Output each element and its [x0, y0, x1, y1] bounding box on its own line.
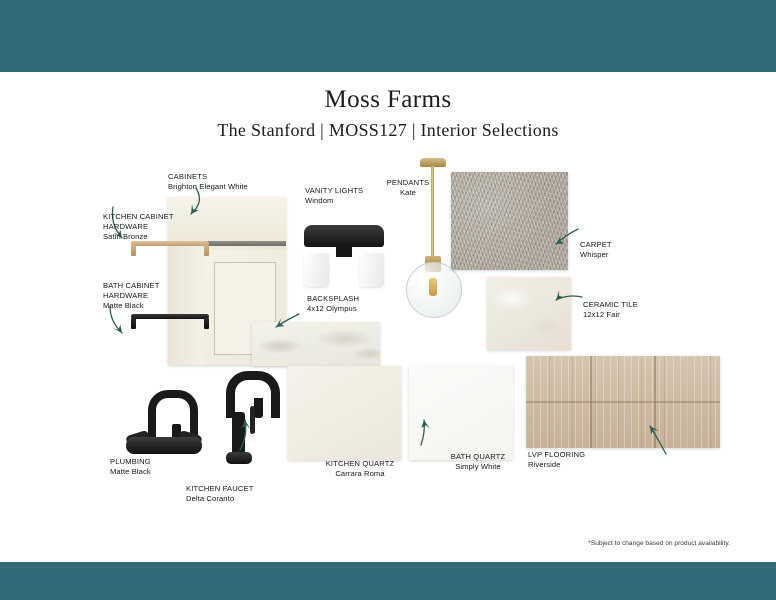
label-lvp-flooring: LVP FLOORING Riverside: [528, 450, 585, 470]
bath-bar-pull-image: [126, 314, 214, 328]
label-plumbing: PLUMBING Matte Black: [110, 457, 151, 477]
label-vanity-lights: VANITY LIGHTS Windom: [305, 186, 363, 206]
label-kitchen-hardware: KITCHEN CABINET HARDWARE Satin Bronze: [103, 212, 174, 242]
top-accent-band: [0, 0, 776, 72]
kitchen-faucet-image: [210, 372, 272, 464]
bath-quartz-swatch: [409, 366, 513, 460]
label-carpet: CARPET Whisper: [580, 240, 612, 260]
selections-board: Moss Farms The Stanford | MOSS127 | Inte…: [0, 0, 776, 600]
label-bath-hardware: BATH CABINET HARDWARE Matte Black: [103, 281, 160, 311]
vanity-light-stem: [336, 243, 352, 257]
pull-post-left: [131, 245, 136, 256]
vanity-light-shade-left: [304, 253, 329, 287]
faucet-column: [232, 412, 245, 456]
pull-bar: [131, 314, 209, 319]
pull-post-right: [204, 245, 209, 256]
faucet-pulldown-head: [254, 398, 263, 418]
ceramic-tile-swatch: [487, 277, 571, 350]
bath-faucet-image: [126, 382, 202, 454]
cabinet-upper-section: [168, 197, 286, 242]
faucet-base-plate: [126, 437, 202, 454]
label-backsplash: BACKSPLASH 4x12 Olympus: [307, 294, 359, 314]
carpet-swatch: [451, 172, 568, 270]
lvp-flooring-swatch: [526, 356, 720, 448]
vanity-light-shade-right: [359, 253, 384, 287]
vanity-light-image: [298, 225, 390, 287]
label-bath-quartz: BATH QUARTZ Simply White: [437, 452, 519, 472]
lvp-plank-row-seam: [526, 401, 720, 403]
label-kitchen-faucet: KITCHEN FAUCET Delta Coranto: [186, 484, 254, 504]
label-kitchen-quartz: KITCHEN QUARTZ Carrara Roma: [312, 459, 408, 479]
pull-post-right: [204, 318, 209, 329]
label-ceramic-tile: CERAMIC TILE 12x12 Fair: [583, 300, 638, 320]
label-pendants: PENDANTS Kate: [378, 178, 438, 198]
kitchen-quartz-swatch: [288, 366, 401, 460]
bottom-accent-band: [0, 562, 776, 600]
cabinet-reveal-shadow: [206, 241, 286, 246]
disclaimer-note: *Subject to change based on product avai…: [588, 540, 730, 547]
faucet-lever-handle: [250, 406, 255, 434]
backsplash-swatch: [252, 322, 380, 366]
page-title: Moss Farms: [0, 86, 776, 114]
pull-post-left: [131, 318, 136, 329]
page-subtitle: The Stanford | MOSS127 | Interior Select…: [0, 120, 776, 141]
pendant-edison-bulb: [429, 278, 437, 296]
kitchen-bar-pull-image: [126, 241, 214, 255]
faucet-base: [226, 452, 252, 464]
label-cabinets: CABINETS Brighton Elegant White: [168, 172, 248, 192]
header: Moss Farms The Stanford | MOSS127 | Inte…: [0, 86, 776, 141]
